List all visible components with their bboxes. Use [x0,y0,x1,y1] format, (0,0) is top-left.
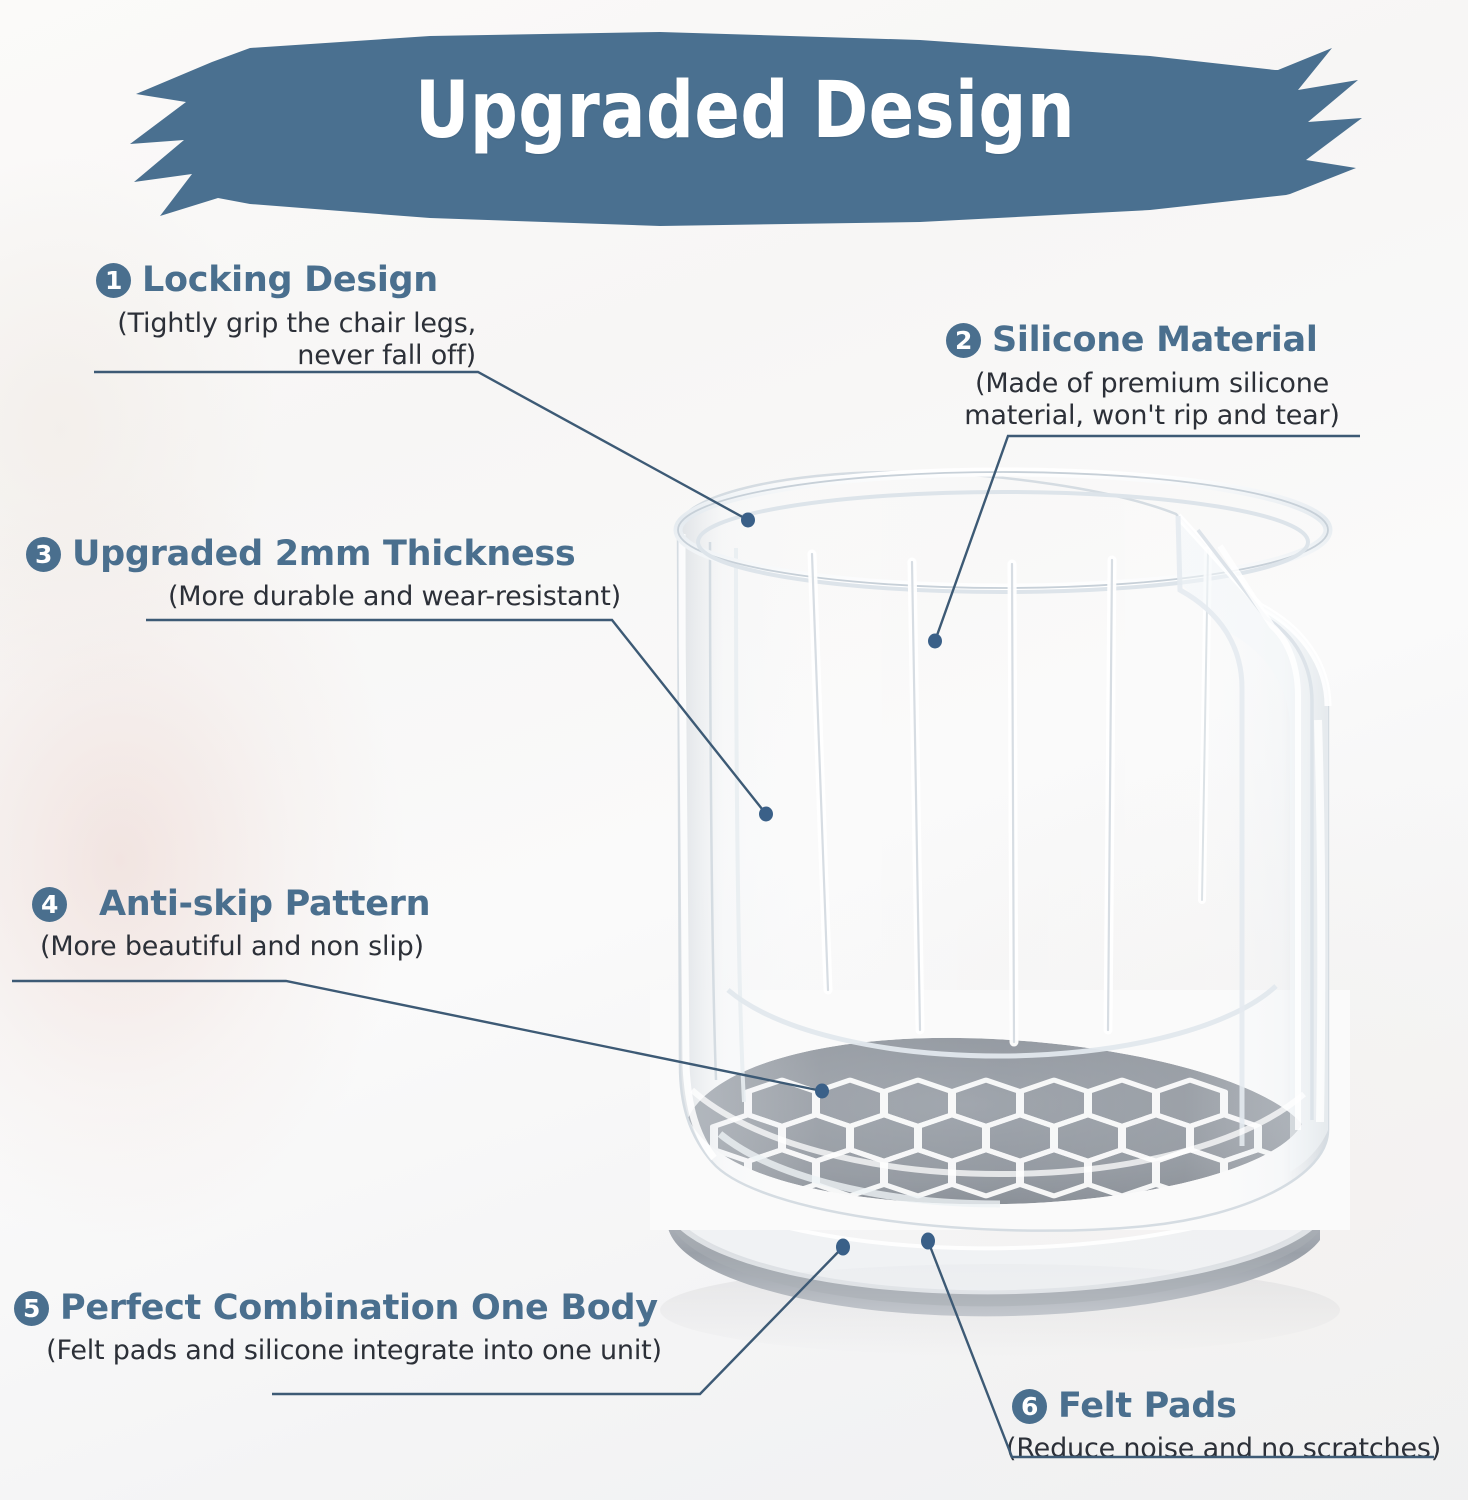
callout-2-number-badge: 2 [946,323,981,358]
callout-4-title: Anti-skip Pattern [99,886,430,923]
callout-4-number-badge: 4 [32,887,67,922]
callout-2-title: Silicone Material [992,322,1318,359]
callout-5-number-badge: 5 [14,1291,49,1326]
callout-3-number-badge: 3 [26,537,61,572]
banner-ribbon: Upgraded Design [100,18,1390,233]
callout-6-number-badge: 6 [1012,1389,1047,1424]
callout-3-heading: 3 Upgraded 2mm Thickness [26,536,621,573]
callout-3-subtitle-line-1: (More durable and wear-resistant) [26,581,621,613]
callout-perfect-combination: 5 Perfect Combination One Body (Felt pad… [14,1290,694,1367]
cup-body [678,472,1328,1231]
callout-2-subtitle: (Made of premium silicone material, won'… [946,368,1358,432]
callout-2-subtitle-line-1: (Made of premium silicone [946,368,1358,400]
callout-silicone-material: 2 Silicone Material (Made of premium sil… [946,322,1358,431]
product-image-chair-leg-cap [560,430,1460,1390]
callout-5-title: Perfect Combination One Body [60,1290,658,1327]
callout-5-subtitle-line-1: (Felt pads and silicone integrate into o… [14,1335,694,1367]
callout-1-number-badge: 1 [96,263,131,298]
product-illustration [560,430,1460,1390]
callout-3-subtitle: (More durable and wear-resistant) [26,581,621,613]
callout-upgraded-thickness: 3 Upgraded 2mm Thickness (More durable a… [26,536,621,613]
callout-4-heading: 4 Anti-skip Pattern [32,886,430,923]
callout-6-subtitle-line-1: (Reduce noise and no scratches) [1006,1433,1441,1465]
callout-1-subtitle-line-2: never fall off) [96,340,476,372]
callout-2-subtitle-line-2: material, won't rip and tear) [946,400,1358,432]
callout-6-heading: 6 Felt Pads [1012,1388,1441,1425]
callout-4-subtitle-line-1: (More beautiful and non slip) [40,931,430,963]
callout-felt-pads: 6 Felt Pads (Reduce noise and no scratch… [1012,1388,1441,1465]
callout-1-subtitle-line-1: (Tightly grip the chair legs, [96,308,476,340]
callout-locking-design: 1 Locking Design (Tightly grip the chair… [96,262,476,371]
callout-1-subtitle: (Tightly grip the chair legs, never fall… [96,308,476,372]
callout-6-title: Felt Pads [1058,1388,1237,1425]
callout-1-title: Locking Design [142,262,438,299]
callout-5-heading: 5 Perfect Combination One Body [14,1290,694,1327]
callout-5-subtitle: (Felt pads and silicone integrate into o… [14,1335,694,1367]
callout-3-title: Upgraded 2mm Thickness [72,536,575,573]
callout-2-heading: 2 Silicone Material [946,322,1358,359]
callout-6-subtitle: (Reduce noise and no scratches) [1006,1433,1441,1465]
infographic-canvas: Upgraded Design [0,0,1468,1500]
callout-anti-skip-pattern: 4 Anti-skip Pattern (More beautiful and … [32,886,430,963]
callout-1-heading: 1 Locking Design [96,262,476,299]
callout-4-subtitle: (More beautiful and non slip) [40,931,430,963]
banner-title: Upgraded Design [190,66,1299,156]
